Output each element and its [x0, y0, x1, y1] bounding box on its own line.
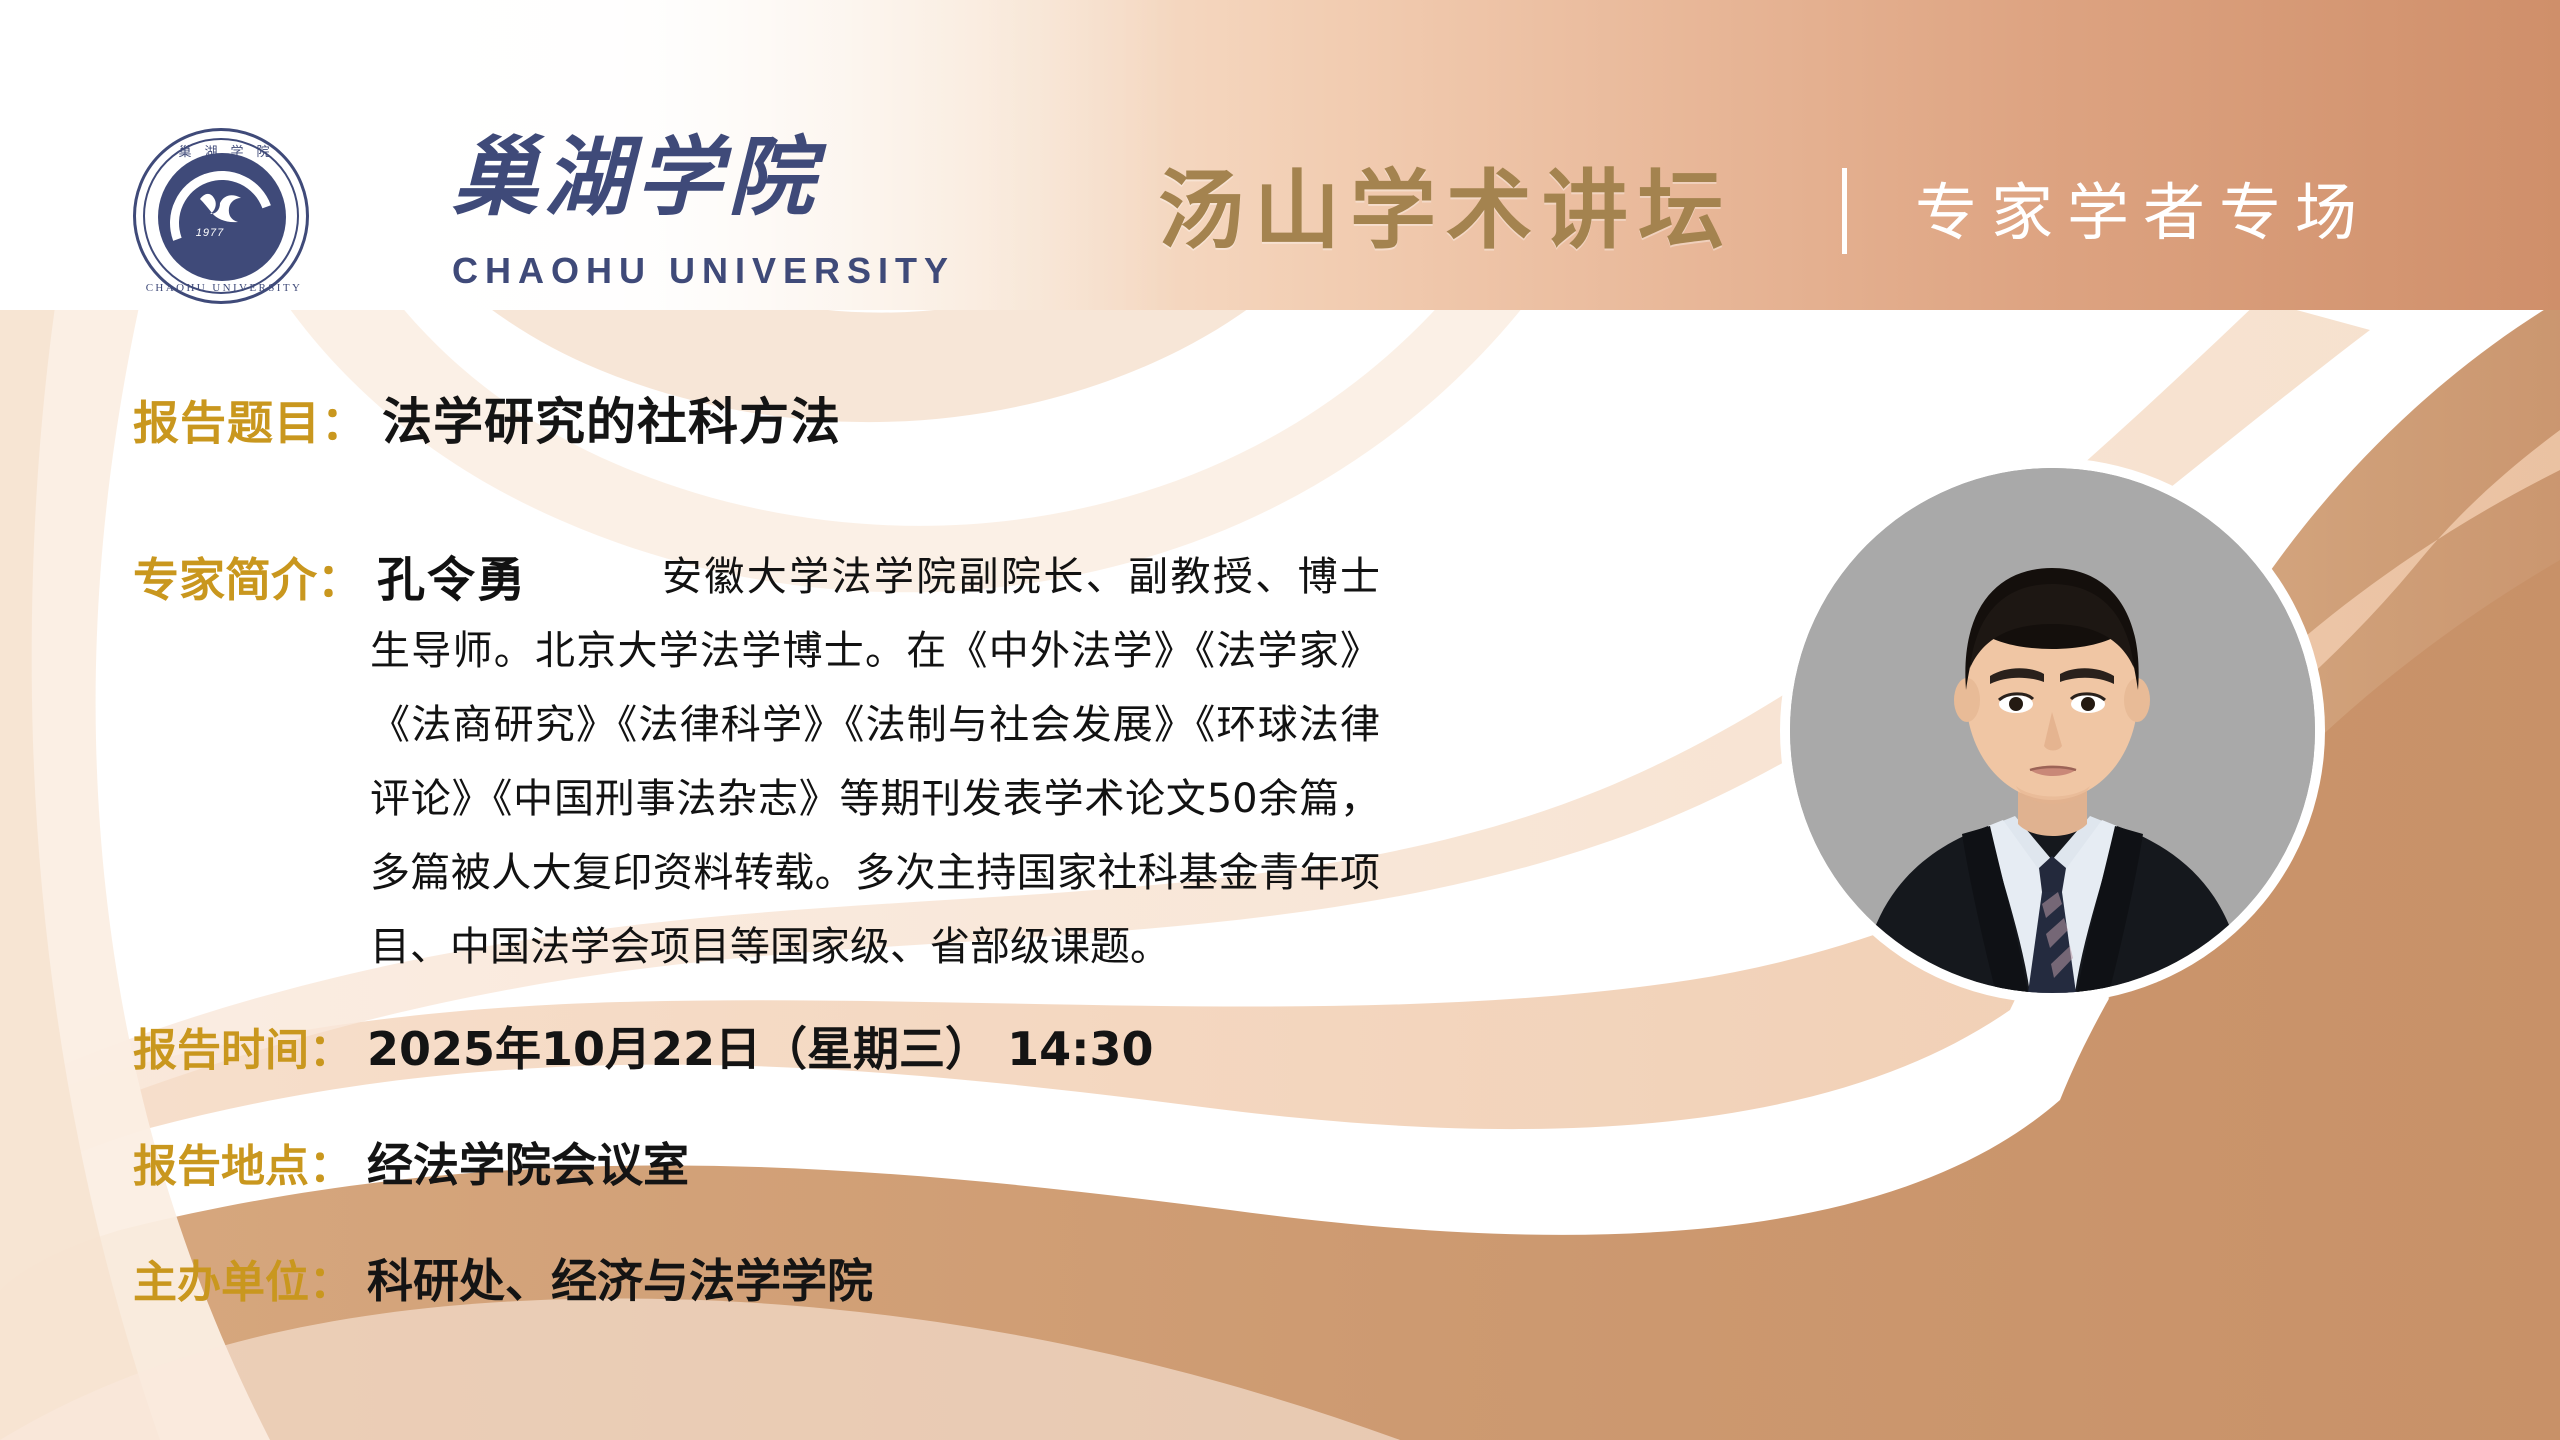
- forum-divider: [1842, 168, 1847, 254]
- time-row: 报告时间： 2025年10月22日（星期三） 14:30: [133, 1013, 1154, 1079]
- time-label: 报告时间：: [133, 1014, 353, 1078]
- place-value: 经法学院会议室: [367, 1129, 689, 1195]
- bio-text: 安徽大学法学院副院长、副教授、博士生导师。北京大学法学博士。在《中外法学》《法学…: [370, 540, 1380, 984]
- host-label: 主办单位：: [133, 1246, 353, 1310]
- bio-label: 专家简介：: [133, 544, 363, 610]
- host-value: 科研处、经济与法学学院: [367, 1245, 873, 1311]
- university-logo: 巢湖学院 1977 CHAOHU UNIVERSITY: [133, 128, 313, 308]
- seal-inner-disc: [158, 153, 286, 281]
- seal-founded-year: 1977: [180, 227, 240, 239]
- forum-subtitle: 专家学者专场: [1915, 182, 2371, 244]
- seal-bottom-label: CHAOHU UNIVERSITY: [136, 282, 312, 294]
- seal-icon: 巢湖学院 1977 CHAOHU UNIVERSITY: [133, 128, 309, 304]
- speaker-portrait: [1790, 468, 2315, 993]
- forum-title: 汤山学术讲坛: [1158, 168, 1734, 254]
- time-value: 2025年10月22日（星期三） 14:30: [367, 1013, 1154, 1079]
- host-row: 主办单位： 科研处、经济与法学学院: [133, 1245, 873, 1311]
- topic-label: 报告题目：: [133, 387, 368, 453]
- seal-bird-icon: [198, 189, 244, 223]
- university-name-en: CHAOHU UNIVERSITY: [452, 250, 955, 292]
- seal-swoosh-icon: [153, 154, 291, 292]
- topic-value: 法学研究的社科方法: [382, 382, 841, 454]
- place-row: 报告地点： 经法学院会议室: [133, 1129, 689, 1195]
- poster-root: 巢湖学院 1977 CHAOHU UNIVERSITY 巢湖学院 CHAOHU …: [0, 0, 2560, 1440]
- place-label: 报告地点：: [133, 1130, 353, 1194]
- portrait-illustration: [1790, 468, 2315, 993]
- header: 巢湖学院 1977 CHAOHU UNIVERSITY 巢湖学院 CHAOHU …: [0, 0, 2560, 310]
- seal-top-label: 巢湖学院: [136, 141, 312, 160]
- university-name-cn: 巢湖学院: [452, 135, 820, 221]
- topic-row: 报告题目： 法学研究的社科方法: [133, 382, 841, 454]
